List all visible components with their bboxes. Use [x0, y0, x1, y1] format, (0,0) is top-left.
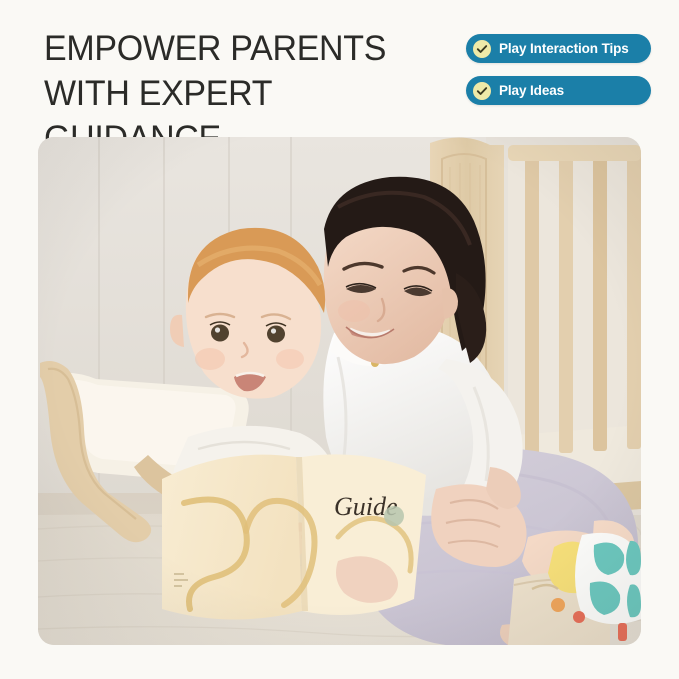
badge-label: Play Interaction Tips [499, 42, 629, 56]
check-circle-icon [473, 40, 491, 58]
check-circle-icon [473, 82, 491, 100]
badge-label: Play Ideas [499, 84, 564, 98]
hero-photo-illustration: Guide [38, 137, 641, 645]
hero-photo: Guide [38, 137, 641, 645]
promo-card: { "headline": { "text": "EMPOWER PARENTS… [0, 0, 679, 679]
badge-play-ideas[interactable]: Play Ideas [466, 76, 651, 105]
photo-vignette [38, 137, 641, 645]
badge-play-interaction-tips[interactable]: Play Interaction Tips [466, 34, 651, 63]
